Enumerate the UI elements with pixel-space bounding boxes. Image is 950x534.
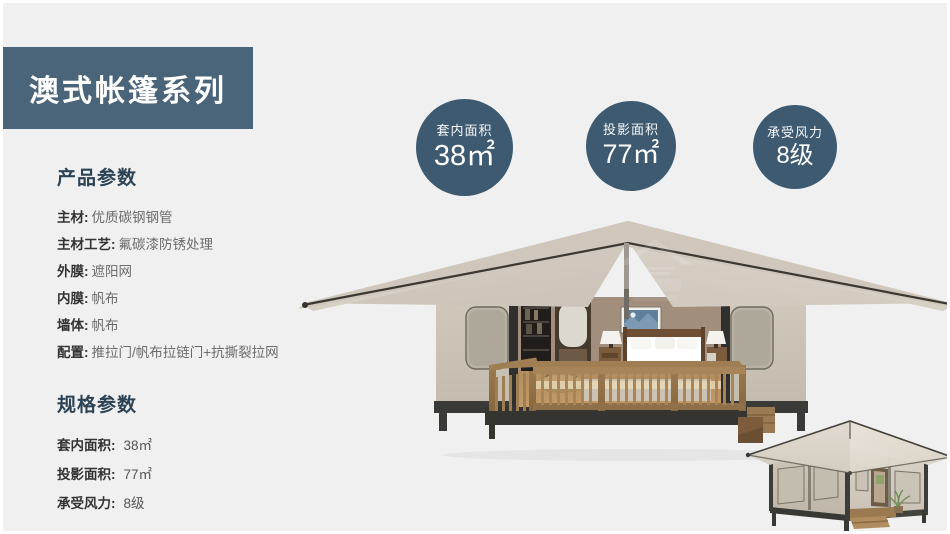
spec-value: 38㎡ xyxy=(124,438,153,453)
param-value: 遮阳网 xyxy=(92,264,133,279)
param-value: 帆布 xyxy=(92,318,119,333)
param-label: 主材工艺: xyxy=(57,237,116,252)
stat-value: 77㎡ xyxy=(602,140,659,168)
stat-label: 承受风力 xyxy=(767,126,823,140)
spec-label: 套内面积: xyxy=(57,438,116,453)
stat-value: 38㎡ xyxy=(434,141,495,171)
param-label: 外膜: xyxy=(57,264,89,279)
param-value: 推拉门/帆布拉链门+抗撕裂拉网 xyxy=(92,345,279,360)
spec-row: 承受风力:8级 xyxy=(57,489,357,518)
spec-label: 承受风力: xyxy=(57,496,116,511)
stat-label: 投影面积 xyxy=(603,123,659,137)
stat-value: 8级 xyxy=(776,143,813,168)
param-value: 帆布 xyxy=(92,291,119,306)
stat-circle-projected-area: 投影面积 77㎡ xyxy=(586,101,676,191)
spec-value: 77㎡ xyxy=(124,467,153,482)
param-label: 墙体: xyxy=(57,318,89,333)
stat-label: 套内面积 xyxy=(436,124,492,138)
param-label: 配置: xyxy=(57,345,89,360)
spec-value: 8级 xyxy=(124,496,145,511)
param-value: 优质碳钢钢管 xyxy=(92,210,173,225)
title-banner: 澳式帐篷系列 xyxy=(3,47,253,129)
stat-circle-wind-resistance: 承受风力 8级 xyxy=(753,105,837,189)
slide-root: 澳式帐篷系列 产品参数 主材:优质碳钢钢管 主材工艺:氟碳漆防锈处理 外膜:遮阳… xyxy=(0,0,950,534)
spec-label: 投影面积: xyxy=(57,467,116,482)
param-label: 主材: xyxy=(57,210,89,225)
secondary-tent-image xyxy=(738,415,950,534)
product-params-heading: 产品参数 xyxy=(57,163,357,190)
param-label: 内膜: xyxy=(57,291,89,306)
param-value: 氟碳漆防锈处理 xyxy=(119,237,214,252)
page-title: 澳式帐篷系列 xyxy=(29,66,227,110)
stat-circle-interior-area: 套内面积 38㎡ xyxy=(416,99,513,196)
